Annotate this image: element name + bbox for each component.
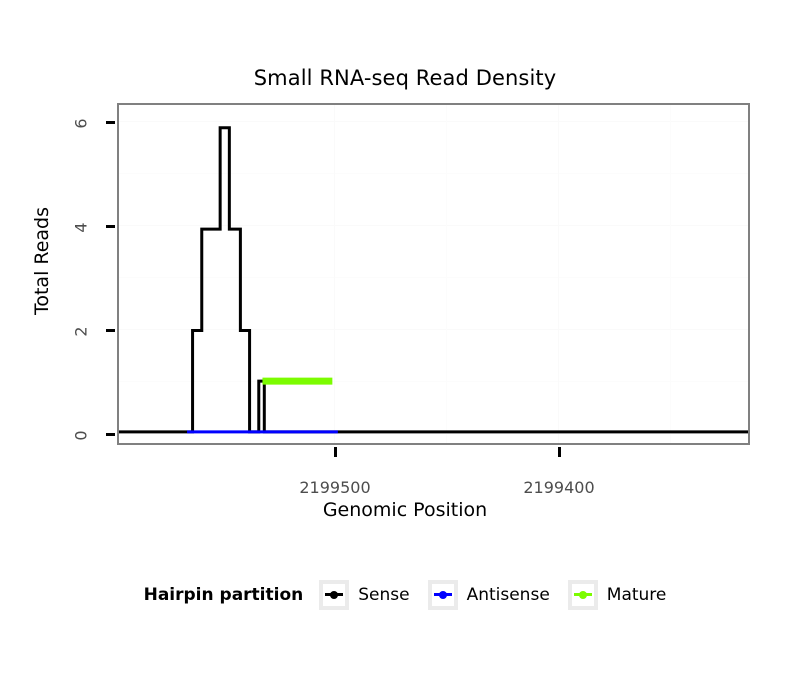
plot-area: [119, 105, 748, 443]
legend-key-mature: [568, 580, 598, 610]
y-axis-label: Total Reads: [31, 181, 53, 341]
y-tick-mark-2: [106, 329, 115, 332]
legend-dot-icon-sense: [330, 591, 338, 599]
series-sense-line: [119, 128, 748, 432]
legend-key-antisense: [428, 580, 458, 610]
legend-dot-icon-mature: [579, 591, 587, 599]
legend-item-antisense[interactable]: Antisense: [428, 580, 568, 610]
legend-title: Hairpin partition: [144, 585, 304, 605]
y-tick-mark-4: [106, 225, 115, 228]
y-tick-mark-6: [106, 121, 115, 124]
chart-root: Small RNA-seq Read Density Total Reads 6…: [0, 0, 810, 690]
legend-dot-icon-antisense: [439, 591, 447, 599]
x-axis-label: Genomic Position: [0, 499, 810, 521]
legend-label-mature: Mature: [607, 585, 667, 605]
legend-label-sense: Sense: [358, 585, 409, 605]
legend: Hairpin partition Sense Antisense Mature: [0, 580, 810, 610]
legend-key-sense: [319, 580, 349, 610]
x-tick-mark-2199500: [334, 447, 337, 457]
plot-panel: [117, 103, 750, 445]
y-tick-mark-0: [106, 433, 115, 436]
x-tick-label-2199400: 2199400: [489, 478, 629, 497]
legend-item-mature[interactable]: Mature: [568, 580, 667, 610]
data-series-layer: [119, 105, 748, 443]
x-tick-mark-2199400: [558, 447, 561, 457]
legend-label-antisense: Antisense: [467, 585, 550, 605]
y-tick-label-2: 2: [72, 312, 91, 352]
legend-item-sense[interactable]: Sense: [319, 580, 427, 610]
chart-title: Small RNA-seq Read Density: [0, 66, 810, 90]
x-tick-label-2199500: 2199500: [265, 478, 405, 497]
y-tick-label-0: 0: [72, 416, 91, 456]
y-tick-label-4: 4: [72, 208, 91, 248]
y-tick-label-6: 6: [72, 104, 91, 144]
